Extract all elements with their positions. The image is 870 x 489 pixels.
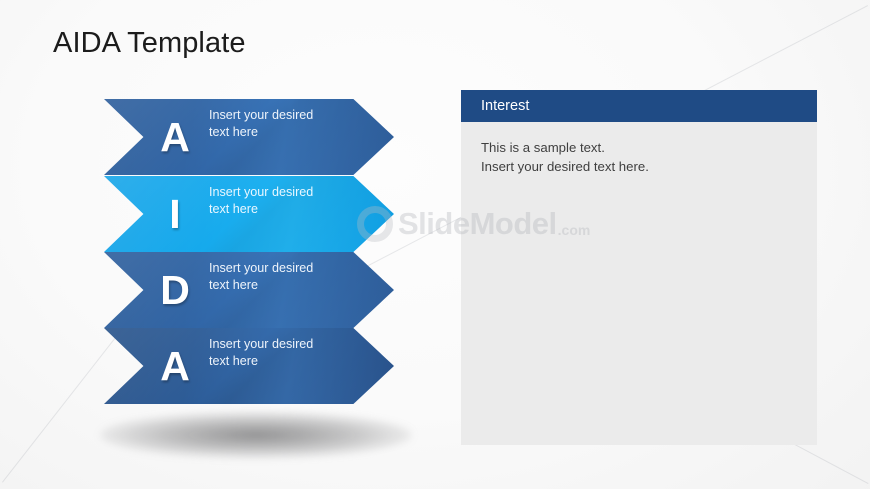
chevron-shape	[104, 252, 394, 328]
content-panel-body-text: This is a sample text. Insert your desir…	[481, 138, 817, 176]
chevron-row-attention[interactable]: A Insert your desired text here	[104, 99, 394, 175]
chevron-row-interest[interactable]: I Insert your desired text here	[104, 176, 394, 252]
chevron-shape	[104, 99, 394, 175]
slide-title: AIDA Template	[53, 27, 246, 60]
content-panel-body[interactable]: This is a sample text. Insert your desir…	[461, 122, 817, 445]
aida-chevron-stack: A Insert your desired text here I Insert…	[104, 99, 394, 405]
chevron-row-action[interactable]: A Insert your desired text here	[104, 328, 394, 404]
chevron-shape	[104, 176, 394, 252]
chevron-stack-shadow	[100, 412, 412, 458]
chevron-row-desire[interactable]: D Insert your desired text here	[104, 252, 394, 328]
content-panel-title: Interest	[481, 98, 529, 114]
content-panel: Interest This is a sample text. Insert y…	[461, 90, 817, 445]
chevron-shape	[104, 328, 394, 404]
slide-canvas: AIDA Template A Insert your desired text…	[0, 0, 870, 489]
content-panel-header: Interest	[461, 90, 817, 122]
